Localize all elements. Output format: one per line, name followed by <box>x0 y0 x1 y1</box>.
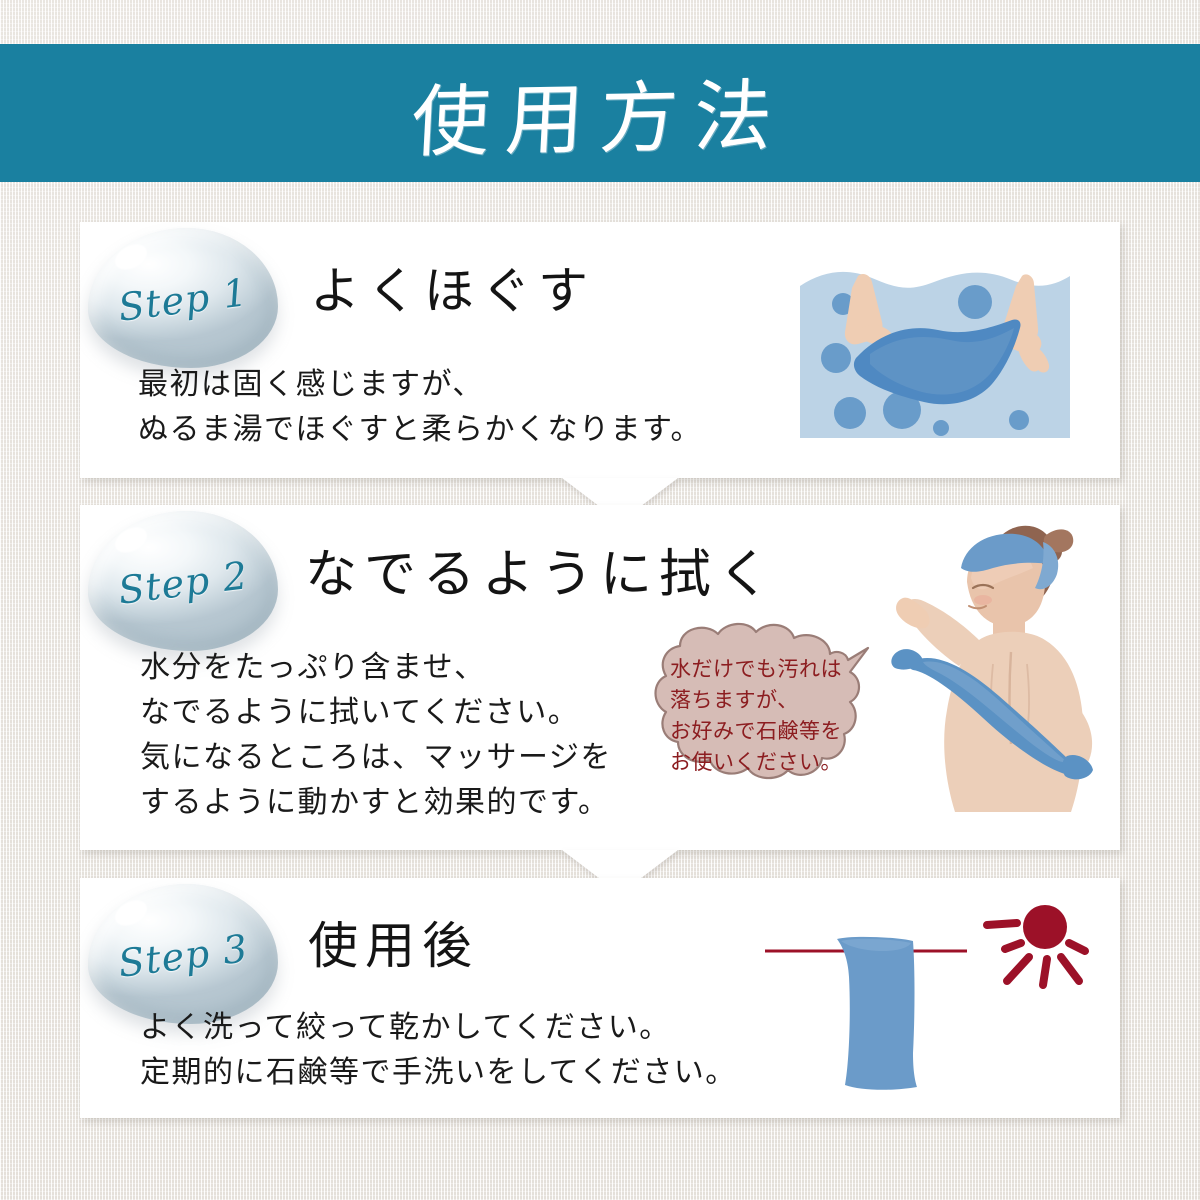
header-band: 使用方法 <box>0 44 1200 182</box>
illustration-towel-drying <box>755 885 1095 1100</box>
page-title: 使用方法 <box>409 54 791 173</box>
step-badge-3: Step 3 <box>88 884 278 1024</box>
body-line: 水分をたっぷり含ませ、 <box>140 645 612 690</box>
step-badge-1: Step 1 <box>88 228 278 368</box>
illustration-hands-washing-cloth <box>800 258 1070 438</box>
step-badge-2: Step 2 <box>88 511 278 651</box>
step-body-3: よく洗って絞って乾かしてください。 定期的に石鹸等で手洗いをしてください。 <box>140 1005 737 1095</box>
callout-line: 落ちますが、 <box>670 685 860 716</box>
step-title-1: よくほぐす <box>310 251 595 323</box>
body-line: ぬるま湯でほぐすと柔らかくなります。 <box>138 407 702 452</box>
callout-line: お使いください。 <box>670 747 860 778</box>
callout-line: お好みで石鹸等を <box>670 716 860 747</box>
step-title-3: 使用後 <box>308 906 479 978</box>
step-title-2: なでるように拭く <box>305 532 777 607</box>
step-body-2: 水分をたっぷり含ませ、 なでるように拭いてください。 気になるところは、マッサー… <box>140 645 612 825</box>
step-body-1: 最初は固く感じますが、 ぬるま湯でほぐすと柔らかくなります。 <box>138 362 702 452</box>
body-line: 定期的に石鹸等で手洗いをしてください。 <box>140 1050 737 1095</box>
callout-text: 水だけでも汚れは 落ちますが、 お好みで石鹸等を お使いください。 <box>670 654 860 778</box>
illustration-woman-wiping-back <box>875 512 1125 842</box>
body-line: よく洗って絞って乾かしてください。 <box>140 1005 737 1050</box>
callout-line: 水だけでも汚れは <box>670 654 860 685</box>
body-line: 気になるところは、マッサージを <box>140 735 612 780</box>
step-badge-label-1: Step 1 <box>80 219 286 381</box>
callout-bubble: 水だけでも汚れは 落ちますが、 お好みで石鹸等を お使いください。 <box>640 620 880 802</box>
body-line: 最初は固く感じますが、 <box>138 362 702 407</box>
step-badge-label-2: Step 2 <box>80 502 286 664</box>
body-line: なでるように拭いてください。 <box>140 690 612 735</box>
body-line: するように動かすと効果的です。 <box>140 780 612 825</box>
